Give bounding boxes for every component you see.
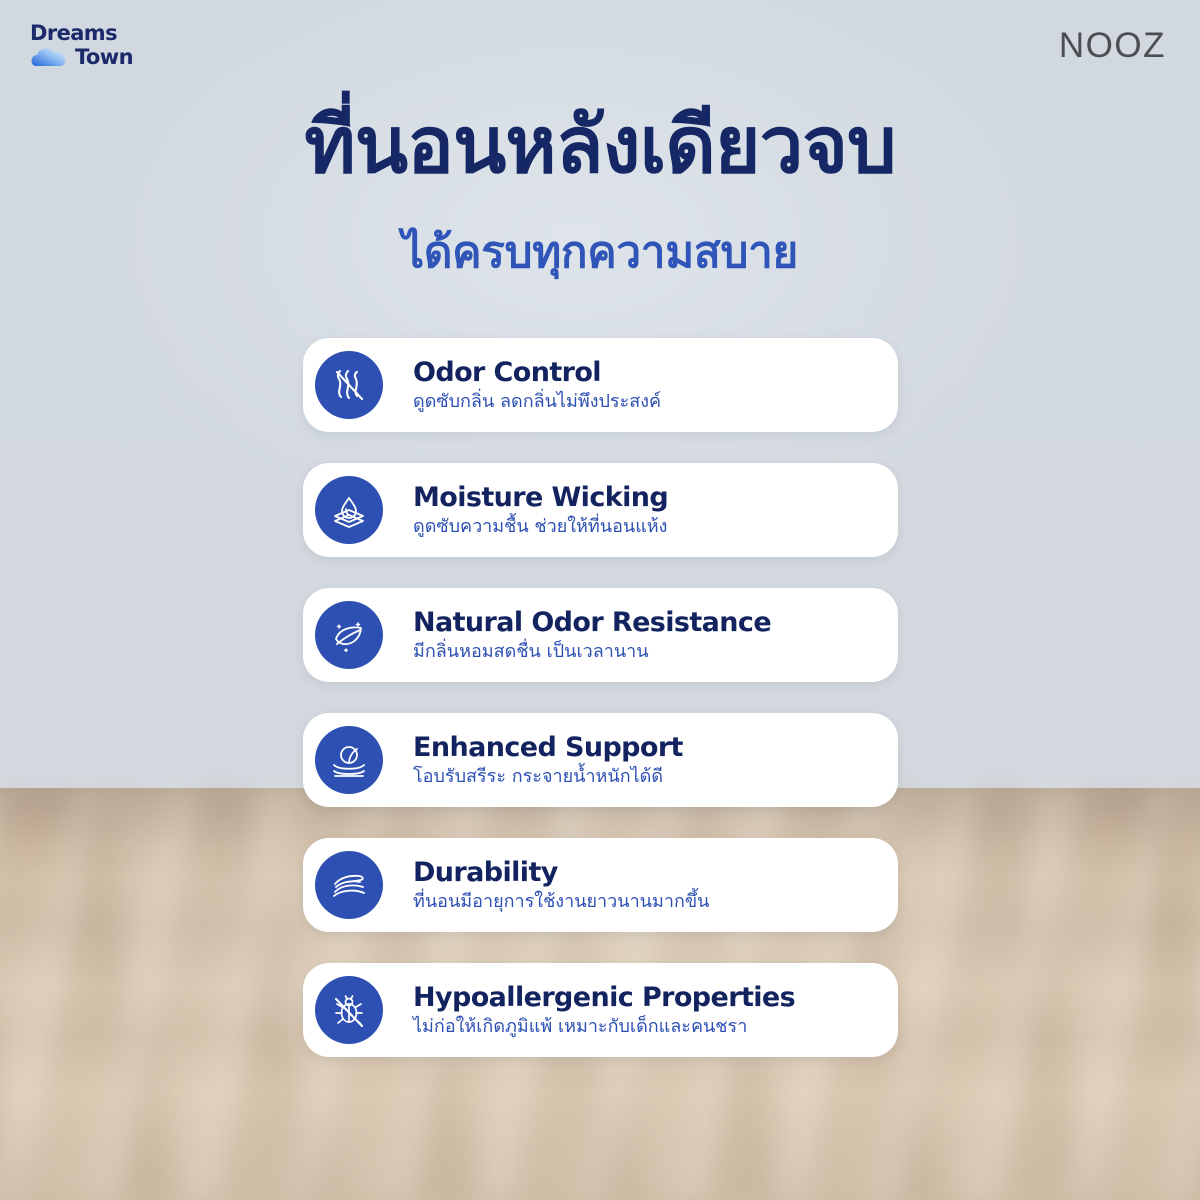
logo-word-town: Town xyxy=(75,46,133,68)
feature-title: Natural Odor Resistance xyxy=(413,607,771,638)
feature-card-list: Odor Control ดูดซับกลิ่น ลดกลิ่นไม่พึงปร… xyxy=(303,338,898,1057)
feature-card[interactable]: Durability ที่นอนมีอายุการใช้งานยาวนานมา… xyxy=(303,838,898,932)
feature-card[interactable]: Odor Control ดูดซับกลิ่น ลดกลิ่นไม่พึงปร… xyxy=(303,338,898,432)
feature-title: Durability xyxy=(413,857,709,888)
feature-text: Odor Control ดูดซับกลิ่น ลดกลิ่นไม่พึงปร… xyxy=(413,357,677,413)
feature-text: Natural Odor Resistance มีกลิ่นหอมสดชื่น… xyxy=(413,607,787,663)
feature-title: Hypoallergenic Properties xyxy=(413,982,795,1013)
leaf-sparkle-icon xyxy=(315,601,383,669)
feature-subtitle: ดูดซับความชื้น ช่วยให้ที่นอนแห้ง xyxy=(413,515,668,538)
feature-text: Enhanced Support โอบรับสรีระ กระจายน้ำหน… xyxy=(413,732,699,788)
page-title: ที่นอนหลังเดียวจบ xyxy=(0,104,1200,188)
feature-subtitle: ไม่ก่อให้เกิดภูมิแพ้ เหมาะกับเด็กและคนชร… xyxy=(413,1015,795,1038)
nooz-logo[interactable]: NOOZ xyxy=(1059,26,1166,66)
feature-title: Enhanced Support xyxy=(413,732,683,763)
dreams-town-logo[interactable]: Dreams Town xyxy=(30,22,150,74)
feature-text: Moisture Wicking ดูดซับความชื้น ช่วยให้ท… xyxy=(413,482,684,538)
logo-bottom-row: Town xyxy=(30,46,150,68)
feature-title: Odor Control xyxy=(413,357,661,388)
feature-text: Durability ที่นอนมีอายุการใช้งานยาวนานมา… xyxy=(413,857,725,913)
feature-card[interactable]: Hypoallergenic Properties ไม่ก่อให้เกิดภ… xyxy=(303,963,898,1057)
hand-mattress-icon xyxy=(315,851,383,919)
feature-title: Moisture Wicking xyxy=(413,482,668,513)
feature-subtitle: โอบรับสรีระ กระจายน้ำหนักได้ดี xyxy=(413,765,683,788)
sphere-ripple-support-icon xyxy=(315,726,383,794)
feature-card[interactable]: Enhanced Support โอบรับสรีระ กระจายน้ำหน… xyxy=(303,713,898,807)
feature-subtitle: ดูดซับกลิ่น ลดกลิ่นไม่พึงประสงค์ xyxy=(413,390,661,413)
feature-subtitle: มีกลิ่นหอมสดชื่น เป็นเวลานาน xyxy=(413,640,771,663)
cloud-pillow-icon xyxy=(30,46,70,68)
logo-top-row: Dreams xyxy=(30,22,150,44)
feature-card[interactable]: Moisture Wicking ดูดซับความชื้น ช่วยให้ท… xyxy=(303,463,898,557)
odor-waves-icon xyxy=(315,351,383,419)
no-dust-mite-icon xyxy=(315,976,383,1044)
water-droplet-layers-icon xyxy=(315,476,383,544)
feature-text: Hypoallergenic Properties ไม่ก่อให้เกิดภ… xyxy=(413,982,811,1038)
feature-card[interactable]: Natural Odor Resistance มีกลิ่นหอมสดชื่น… xyxy=(303,588,898,682)
promo-poster: Dreams Town NOOZ ที่นอนหลังเ xyxy=(0,0,1200,1200)
page-subtitle: ได้ครบทุกความสบาย xyxy=(0,228,1200,277)
logo-word-dreams: Dreams xyxy=(30,22,117,44)
feature-subtitle: ที่นอนมีอายุการใช้งานยาวนานมากขึ้น xyxy=(413,890,709,913)
